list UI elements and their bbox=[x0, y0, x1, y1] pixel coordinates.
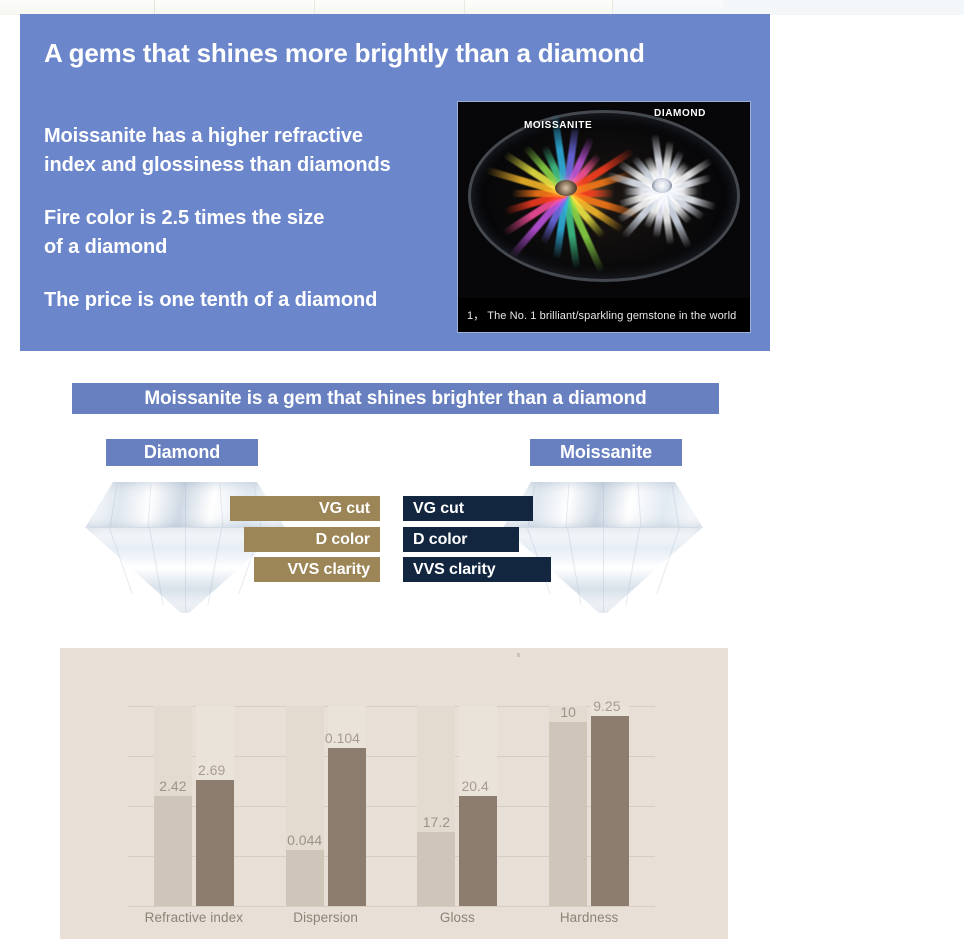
chart-bar: 9.25 bbox=[591, 706, 629, 906]
chrome-cell[interactable] bbox=[613, 0, 723, 15]
chart-value-label: 2.69 bbox=[198, 762, 225, 778]
chart-bar-fill bbox=[196, 780, 234, 906]
chart-bar: 17.2 bbox=[417, 706, 455, 906]
comparison-bar-chart: 2.422.690.0440.10417.220.4109.25 Refract… bbox=[60, 648, 728, 939]
slide-page: A gems that shines more brightly than a … bbox=[0, 0, 964, 939]
chart-value-label: 9.25 bbox=[593, 698, 620, 714]
gem-label-diamond: Diamond bbox=[106, 439, 258, 466]
spec-chip-diamond-cut: VG cut bbox=[230, 496, 380, 521]
chart-value-label: 20.4 bbox=[461, 778, 488, 794]
banner-line: of a diamond bbox=[44, 233, 464, 262]
chart-bar-fill bbox=[591, 716, 629, 906]
top-chrome-strip bbox=[0, 0, 964, 15]
chart-bar-group: 109.25 bbox=[523, 706, 655, 906]
photo-label-diamond: DIAMOND bbox=[654, 108, 706, 119]
chart-bar: 2.69 bbox=[196, 706, 234, 906]
chart-value-label: 17.2 bbox=[423, 814, 450, 830]
chart-bar-groups: 2.422.690.0440.10417.220.4109.25 bbox=[128, 706, 655, 906]
chart-category-label: Refractive index bbox=[128, 910, 260, 925]
chrome-cell[interactable] bbox=[0, 0, 155, 15]
chrome-filler bbox=[723, 0, 964, 15]
banner-paragraph: The price is one tenth of a diamond bbox=[44, 286, 464, 315]
chart-bar: 0.044 bbox=[286, 706, 324, 906]
chart-bar-group: 17.220.4 bbox=[392, 706, 524, 906]
hero-banner: A gems that shines more brightly than a … bbox=[20, 14, 770, 351]
spec-chip-diamond-color: D color bbox=[244, 527, 380, 552]
photo-caption: 1， The No. 1 brilliant/sparkling gemston… bbox=[458, 298, 750, 332]
chart-bar: 20.4 bbox=[459, 706, 497, 906]
chart-category-axis: Refractive indexDispersionGlossHardness bbox=[128, 910, 655, 925]
chart-plot-area: 2.422.690.0440.10417.220.4109.25 bbox=[128, 706, 655, 906]
chart-category-label: Gloss bbox=[392, 910, 524, 925]
moissanite-gem-image bbox=[503, 482, 703, 614]
banner-line: Moissanite has a higher refractive bbox=[44, 122, 464, 151]
chart-value-label: 0.044 bbox=[287, 832, 322, 848]
chrome-cell[interactable] bbox=[155, 0, 315, 15]
chart-bar-fill bbox=[154, 796, 192, 906]
spec-chip-moissanite-color: D color bbox=[403, 527, 519, 552]
chart-bar-fill bbox=[459, 796, 497, 906]
chart-bar: 0.104 bbox=[328, 706, 366, 906]
chart-bar-fill bbox=[328, 748, 366, 906]
chart-value-label: 10 bbox=[560, 704, 576, 720]
chart-value-label: 2.42 bbox=[159, 778, 186, 794]
chart-bar-fill bbox=[417, 832, 455, 906]
banner-paragraph: Moissanite has a higher refractive index… bbox=[44, 122, 464, 180]
chart-marker-dot bbox=[517, 653, 520, 657]
gem-label-moissanite: Moissanite bbox=[530, 439, 682, 466]
chart-category-label: Hardness bbox=[523, 910, 655, 925]
chart-bar-fill bbox=[286, 850, 324, 906]
chart-bar-fill bbox=[549, 722, 587, 906]
spec-chip-diamond-clarity: VVS clarity bbox=[254, 557, 380, 582]
sparkle-comparison-photo: MOISSANITE DIAMOND 1， The No. 1 brillian… bbox=[457, 101, 751, 333]
chrome-cell[interactable] bbox=[315, 0, 465, 15]
subtitle-bar: Moissanite is a gem that shines brighter… bbox=[72, 383, 719, 414]
banner-body: Moissanite has a higher refractive index… bbox=[44, 122, 464, 315]
spec-chip-moissanite-cut: VG cut bbox=[403, 496, 533, 521]
photo-label-moissanite: MOISSANITE bbox=[524, 120, 592, 131]
banner-line: Fire color is 2.5 times the size bbox=[44, 204, 464, 233]
chart-bar-group: 0.0440.104 bbox=[260, 706, 392, 906]
subtitle-text: Moissanite is a gem that shines brighter… bbox=[144, 388, 646, 410]
chart-bar-group: 2.422.69 bbox=[128, 706, 260, 906]
chart-gridline bbox=[128, 906, 655, 907]
chart-bar: 10 bbox=[549, 706, 587, 906]
banner-paragraph: Fire color is 2.5 times the size of a di… bbox=[44, 204, 464, 262]
diamond-fire-burst bbox=[458, 102, 750, 298]
chart-value-label: 0.104 bbox=[325, 730, 360, 746]
banner-line: index and glossiness than diamonds bbox=[44, 151, 464, 180]
banner-title: A gems that shines more brightly than a … bbox=[44, 38, 744, 69]
banner-line: The price is one tenth of a diamond bbox=[44, 286, 464, 315]
spec-chip-moissanite-clarity: VVS clarity bbox=[403, 557, 551, 582]
chart-bar: 2.42 bbox=[154, 706, 192, 906]
chrome-cell[interactable] bbox=[465, 0, 613, 15]
gem-facets bbox=[503, 482, 703, 614]
chart-category-label: Dispersion bbox=[260, 910, 392, 925]
photo-scene: MOISSANITE DIAMOND bbox=[458, 102, 750, 298]
